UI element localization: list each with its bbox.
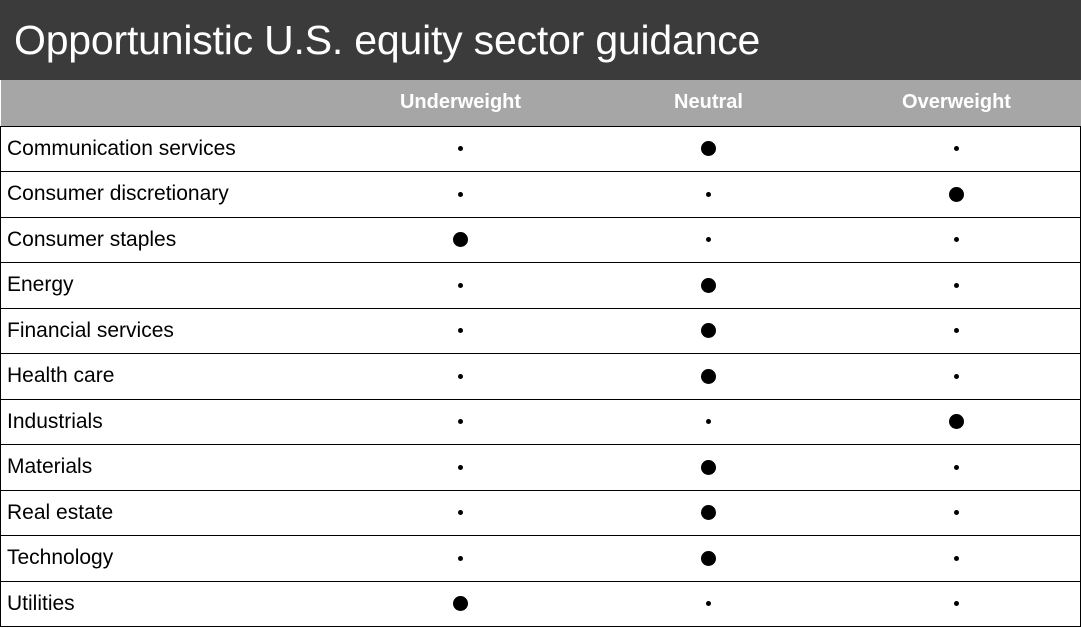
unselected-rating-dot bbox=[706, 237, 711, 242]
unselected-rating-dot bbox=[458, 146, 463, 151]
rating-cell-underweight[interactable] bbox=[337, 399, 585, 445]
rating-cell-underweight[interactable] bbox=[337, 308, 585, 354]
rating-cell-neutral[interactable] bbox=[585, 308, 833, 354]
table-row[interactable]: Utilities bbox=[1, 581, 1081, 627]
sector-label: Utilities bbox=[1, 581, 337, 627]
column-header-neutral: Neutral bbox=[585, 80, 833, 126]
rating-cell-neutral[interactable] bbox=[585, 490, 833, 536]
table-row[interactable]: Technology bbox=[1, 536, 1081, 582]
unselected-rating-dot bbox=[458, 510, 463, 515]
rating-cell-overweight[interactable] bbox=[833, 536, 1081, 582]
rating-cell-neutral[interactable] bbox=[585, 172, 833, 218]
selected-rating-dot bbox=[453, 232, 468, 247]
selected-rating-dot bbox=[701, 278, 716, 293]
rating-cell-underweight[interactable] bbox=[337, 536, 585, 582]
table-row[interactable]: Materials bbox=[1, 445, 1081, 491]
rating-cell-overweight[interactable] bbox=[833, 445, 1081, 491]
table-row[interactable]: Health care bbox=[1, 354, 1081, 400]
unselected-rating-dot bbox=[706, 192, 711, 197]
table-row[interactable]: Communication services bbox=[1, 126, 1081, 172]
selected-rating-dot bbox=[949, 414, 964, 429]
unselected-rating-dot bbox=[458, 328, 463, 333]
rating-cell-neutral[interactable] bbox=[585, 263, 833, 309]
sector-label: Health care bbox=[1, 354, 337, 400]
rating-cell-underweight[interactable] bbox=[337, 445, 585, 491]
rating-cell-overweight[interactable] bbox=[833, 399, 1081, 445]
rating-cell-underweight[interactable] bbox=[337, 490, 585, 536]
table-row[interactable]: Financial services bbox=[1, 308, 1081, 354]
selected-rating-dot bbox=[949, 187, 964, 202]
unselected-rating-dot bbox=[706, 419, 711, 424]
sector-label: Communication services bbox=[1, 126, 337, 172]
sector-label: Real estate bbox=[1, 490, 337, 536]
rating-cell-underweight[interactable] bbox=[337, 263, 585, 309]
unselected-rating-dot bbox=[458, 283, 463, 288]
selected-rating-dot bbox=[701, 323, 716, 338]
rating-cell-overweight[interactable] bbox=[833, 354, 1081, 400]
rating-cell-overweight[interactable] bbox=[833, 217, 1081, 263]
unselected-rating-dot bbox=[458, 465, 463, 470]
rating-cell-neutral[interactable] bbox=[585, 445, 833, 491]
selected-rating-dot bbox=[701, 369, 716, 384]
column-header-overweight: Overweight bbox=[833, 80, 1081, 126]
table-row[interactable]: Consumer discretionary bbox=[1, 172, 1081, 218]
table-header-row: Underweight Neutral Overweight bbox=[1, 80, 1081, 126]
page-title: Opportunistic U.S. equity sector guidanc… bbox=[14, 20, 760, 61]
rating-cell-overweight[interactable] bbox=[833, 581, 1081, 627]
table-body: Communication servicesConsumer discretio… bbox=[1, 126, 1081, 627]
slide-container: Opportunistic U.S. equity sector guidanc… bbox=[0, 0, 1081, 628]
sector-label: Technology bbox=[1, 536, 337, 582]
sector-label: Financial services bbox=[1, 308, 337, 354]
unselected-rating-dot bbox=[458, 556, 463, 561]
unselected-rating-dot bbox=[954, 374, 959, 379]
selected-rating-dot bbox=[701, 460, 716, 475]
selected-rating-dot bbox=[701, 141, 716, 156]
unselected-rating-dot bbox=[706, 601, 711, 606]
unselected-rating-dot bbox=[458, 419, 463, 424]
rating-cell-underweight[interactable] bbox=[337, 581, 585, 627]
table-row[interactable]: Consumer staples bbox=[1, 217, 1081, 263]
table-row[interactable]: Energy bbox=[1, 263, 1081, 309]
selected-rating-dot bbox=[453, 596, 468, 611]
unselected-rating-dot bbox=[954, 328, 959, 333]
sector-label: Industrials bbox=[1, 399, 337, 445]
rating-cell-neutral[interactable] bbox=[585, 217, 833, 263]
unselected-rating-dot bbox=[954, 283, 959, 288]
rating-cell-overweight[interactable] bbox=[833, 172, 1081, 218]
rating-cell-neutral[interactable] bbox=[585, 536, 833, 582]
sector-label: Energy bbox=[1, 263, 337, 309]
sector-label: Consumer discretionary bbox=[1, 172, 337, 218]
rating-cell-overweight[interactable] bbox=[833, 263, 1081, 309]
rating-cell-overweight[interactable] bbox=[833, 308, 1081, 354]
title-bar: Opportunistic U.S. equity sector guidanc… bbox=[0, 0, 1081, 80]
table-row[interactable]: Industrials bbox=[1, 399, 1081, 445]
sector-guidance-table: Underweight Neutral Overweight Communica… bbox=[0, 80, 1081, 627]
unselected-rating-dot bbox=[954, 601, 959, 606]
unselected-rating-dot bbox=[954, 237, 959, 242]
selected-rating-dot bbox=[701, 551, 716, 566]
column-header-sector bbox=[1, 80, 337, 126]
rating-cell-underweight[interactable] bbox=[337, 217, 585, 263]
rating-cell-underweight[interactable] bbox=[337, 354, 585, 400]
column-header-underweight: Underweight bbox=[337, 80, 585, 126]
rating-cell-overweight[interactable] bbox=[833, 490, 1081, 536]
unselected-rating-dot bbox=[458, 374, 463, 379]
unselected-rating-dot bbox=[954, 146, 959, 151]
rating-cell-underweight[interactable] bbox=[337, 172, 585, 218]
rating-cell-neutral[interactable] bbox=[585, 126, 833, 172]
table-row[interactable]: Real estate bbox=[1, 490, 1081, 536]
rating-cell-neutral[interactable] bbox=[585, 581, 833, 627]
unselected-rating-dot bbox=[954, 556, 959, 561]
rating-cell-neutral[interactable] bbox=[585, 399, 833, 445]
rating-cell-overweight[interactable] bbox=[833, 126, 1081, 172]
sector-label: Consumer staples bbox=[1, 217, 337, 263]
table-header: Underweight Neutral Overweight bbox=[1, 80, 1081, 126]
unselected-rating-dot bbox=[954, 510, 959, 515]
sector-label: Materials bbox=[1, 445, 337, 491]
unselected-rating-dot bbox=[458, 192, 463, 197]
rating-cell-neutral[interactable] bbox=[585, 354, 833, 400]
selected-rating-dot bbox=[701, 505, 716, 520]
rating-cell-underweight[interactable] bbox=[337, 126, 585, 172]
unselected-rating-dot bbox=[954, 465, 959, 470]
